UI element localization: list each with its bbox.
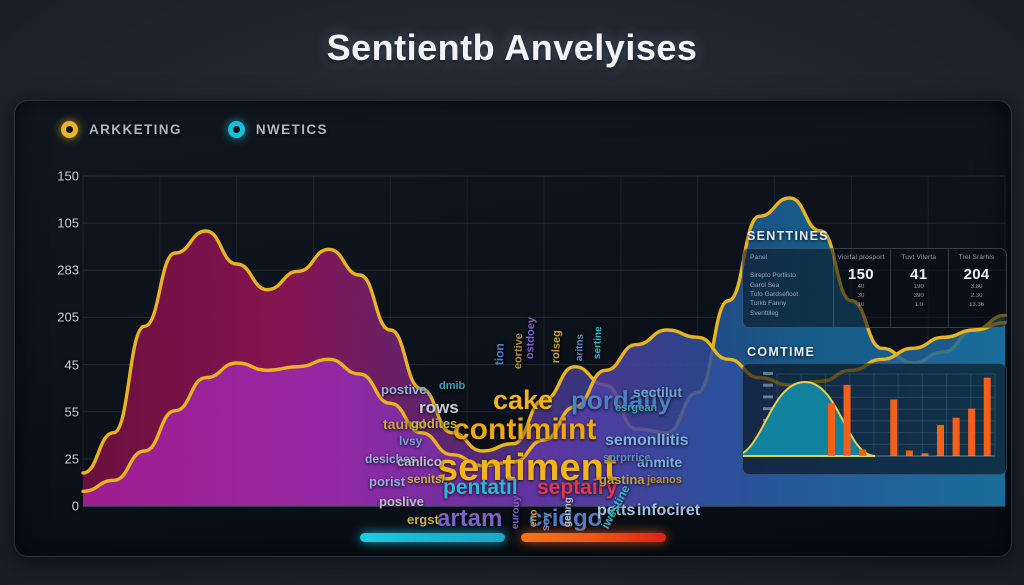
stats-cell: 30: [836, 292, 887, 301]
bar: [859, 450, 866, 456]
x-axis-tick: 150: [533, 556, 553, 557]
area-chart-svg: [15, 156, 1011, 556]
x-axis-tick: 90: [692, 556, 705, 557]
bar: [937, 425, 944, 456]
stats-table: Panel Sirepto Portlisto Garol Sea Tufo G…: [742, 248, 1007, 328]
cyan-pill[interactable]: [360, 533, 505, 542]
x-axis-tick: 110: [455, 556, 474, 557]
stats-cell: 3.80: [951, 283, 1002, 292]
stats-column-3: Trel Srarhls 204 3.80 2.30 13.36: [948, 249, 1006, 327]
warm-pill[interactable]: [521, 533, 666, 542]
bar-chart-panel: [742, 363, 1007, 475]
legend-item-nwetics[interactable]: NWETICS: [228, 121, 328, 138]
stats-row-label: Garol Sea: [750, 281, 829, 290]
stats-cell: 13.36: [951, 301, 1002, 310]
stats-featured-value: 41: [893, 266, 944, 283]
bar: [844, 385, 851, 456]
legend-label: ARKKETING: [89, 122, 182, 137]
stats-header-cell: Trel Srarhls: [951, 254, 1002, 262]
dashboard-card: ARKKETING NWETICS 1501052832054555250: [14, 100, 1012, 557]
ring-icon: [228, 121, 245, 138]
stats-row-label: Turkb Fanny: [750, 299, 829, 308]
footer-pills: [15, 533, 1011, 542]
chart-legend: ARKKETING NWETICS: [61, 121, 328, 138]
legend-label: NWETICS: [256, 122, 328, 137]
stats-column-1: Viorfal prosport 150 40 30 10: [833, 249, 891, 327]
ring-icon: [61, 121, 78, 138]
overlay-area: [743, 382, 875, 456]
bar: [890, 400, 897, 456]
x-axis-tick: 30: [302, 556, 315, 557]
x-axis-tick: 110: [845, 556, 864, 557]
bar: [906, 451, 913, 456]
stats-row-label: Sventtlleg: [750, 309, 829, 318]
stats-featured-value: 204: [951, 266, 1002, 283]
main-chart: 1501052832054555250: [15, 156, 1011, 556]
page-title: Sentientb Anvelyises: [0, 27, 1024, 69]
stats-cell: 2.30: [951, 292, 1002, 301]
stats-column-labels: Panel Sirepto Portlisto Garol Sea Tufo G…: [743, 249, 833, 327]
stats-panel-title: SENTTINES: [747, 229, 829, 243]
x-axis-tick: 10: [380, 556, 393, 557]
stats-column-2: Tuvt Vilerta 41 190 390 1.0: [890, 249, 948, 327]
stats-header-cell: Tuvt Vilerta: [893, 254, 944, 262]
stats-cell: 390: [893, 292, 944, 301]
stats-cell: 40: [836, 283, 887, 292]
x-axis-tick: 20: [614, 556, 627, 557]
bar: [984, 378, 991, 456]
x-axis-tick: 20: [926, 556, 939, 557]
x-axis-tick: 160: [767, 556, 787, 557]
x-axis-tick: 20: [224, 556, 237, 557]
bar-chart-svg: [743, 364, 1006, 474]
x-axis-tick: 0: [72, 556, 79, 557]
x-axis-tick: 140: [1001, 556, 1012, 557]
bar-panel-title: COMTIME: [747, 345, 815, 359]
bar: [968, 409, 975, 456]
stats-row-label: Tufo Gardsefloot: [750, 290, 829, 299]
stats-header-cell: Viorfal prosport: [836, 254, 887, 262]
stats-cell: 10: [836, 301, 887, 310]
stats-header-cell: Panel: [750, 254, 829, 262]
x-axis-labels: 040203010110150209016011020140: [75, 556, 1011, 557]
stats-featured-label: Sirepto Portlisto: [750, 271, 829, 280]
legend-item-arkketing[interactable]: ARKKETING: [61, 121, 182, 138]
bar: [953, 418, 960, 456]
stats-cell: 190: [893, 283, 944, 292]
stats-cell: 1.0: [893, 301, 944, 310]
bar: [828, 403, 835, 456]
x-axis-tick: 40: [146, 556, 159, 557]
stats-featured-value: 150: [836, 266, 887, 283]
